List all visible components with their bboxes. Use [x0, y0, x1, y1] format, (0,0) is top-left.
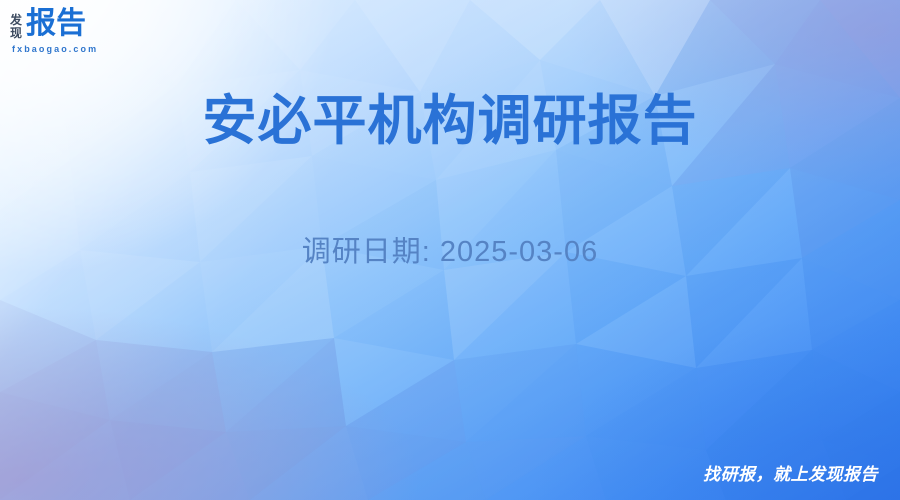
- logo-mark: 发 现: [10, 12, 22, 39]
- logo-wordmark: 报告: [26, 9, 86, 39]
- footer-slogan: 找研报，就上发现报告: [703, 464, 878, 486]
- cover-subtitle-survey-date: 调研日期: 2025-03-06: [0, 232, 900, 272]
- logo-mark-top-char: 发: [10, 14, 22, 27]
- report-cover-slide: 发 现 报告 fxbaogao.com 安必平机构调研报告 调研日期: 2025…: [0, 0, 900, 500]
- logo-domain-text: fxbaogao.com: [12, 44, 98, 54]
- cover-title: 安必平机构调研报告: [0, 88, 900, 154]
- brand-logo[interactable]: 发 现 报告: [10, 9, 86, 39]
- logo-mark-bottom-char: 现: [10, 27, 22, 40]
